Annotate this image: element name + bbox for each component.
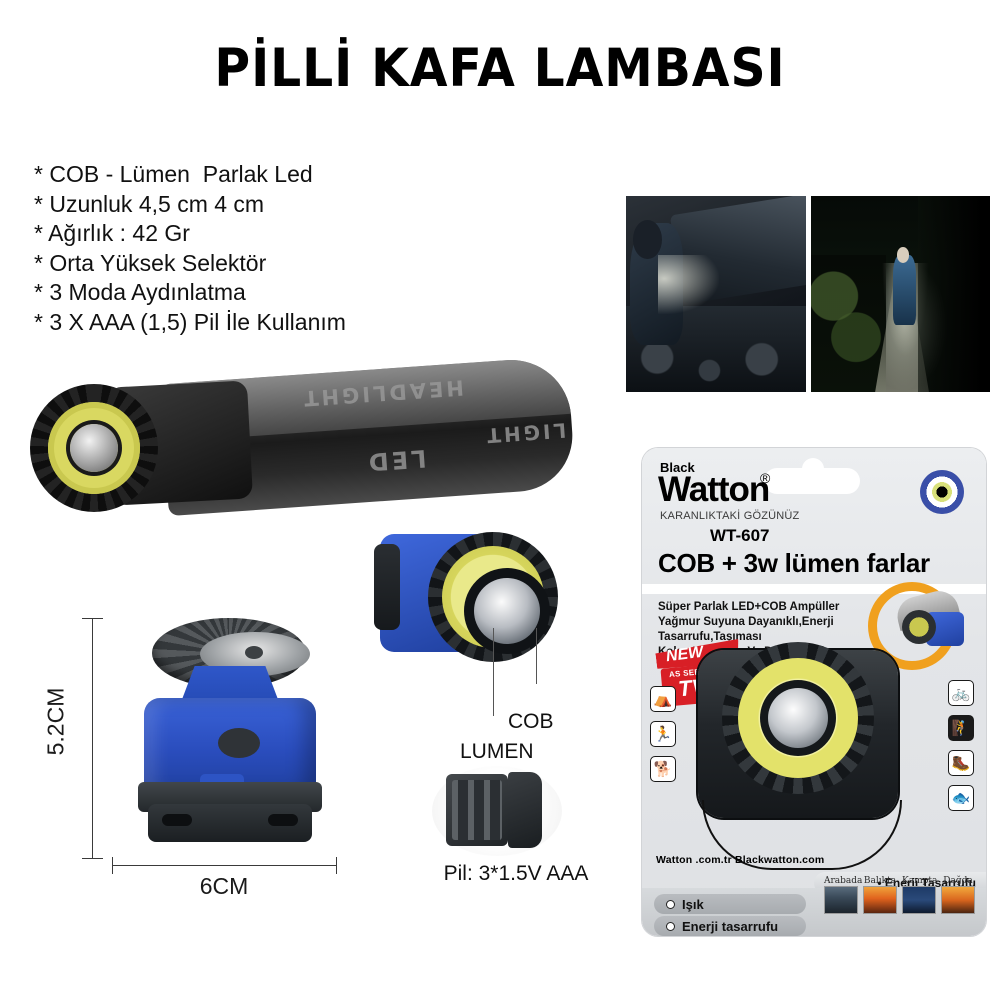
activity-icons-right: 🚲 🧗 🥾 🐟 (948, 680, 978, 820)
height-cap-bottom (82, 858, 103, 859)
spec-item: * COB - Lümen Parlak Led (34, 160, 464, 190)
width-cap-right (336, 857, 337, 874)
spec-list: * COB - Lümen Parlak Led * Uzunluk 4,5 c… (34, 160, 464, 337)
usage-photo-mechanic (626, 196, 806, 392)
activity-icons-left: ⛺ 🏃 🐕 (650, 686, 680, 791)
running-glyph: 🏃 (654, 727, 673, 742)
callout-line-lumen (493, 628, 494, 716)
hiking-icon: 🥾 (948, 750, 974, 776)
scene-label: Arabada (824, 876, 858, 886)
foliage-right (918, 196, 990, 392)
scene-dagda: Dağda (941, 876, 975, 914)
battery-case (446, 774, 508, 846)
brand-name: Watton (658, 470, 769, 510)
feature-label: Işık (682, 897, 704, 912)
euro-hang-slot (764, 468, 860, 494)
fishing-icon: 🐟 (948, 785, 974, 811)
battery-compartment-photo: Pil: 3*1.5V AAA (406, 766, 626, 891)
spec-item: * Uzunluk 4,5 cm 4 cm (34, 190, 464, 220)
product-photo-headband: HEADLIGHT LED LIGHT (14, 356, 574, 546)
scene-balikta: Balıkta (863, 876, 897, 914)
cycling-icon: 🚲 (948, 680, 974, 706)
width-cap-left (112, 857, 113, 874)
scene-thumbnails: Arabada Balıkta Kampta Dağda (824, 876, 975, 914)
usage-photo-gallery (626, 196, 990, 392)
height-measure-line (92, 618, 93, 858)
product-photo-angled-lamp: COB LUMEN (376, 528, 586, 768)
scene-image-camping (902, 886, 936, 914)
scene-label: Balıkta (863, 876, 897, 886)
model-number: WT-607 (710, 526, 770, 546)
callout-label-cob: COB (508, 710, 554, 734)
strap-text-led: LED (365, 444, 427, 476)
scene-kampta: Kampta (902, 876, 936, 914)
cycling-glyph: 🚲 (952, 686, 971, 701)
product-photo-blue-lamp-front (126, 614, 332, 860)
hero-inner-bezel (760, 680, 836, 756)
inner-bezel (464, 568, 550, 654)
power-button (218, 728, 260, 758)
cap-clip (148, 804, 312, 842)
spec-item: * 3 X AAA (1,5) Pil İle Kullanım (34, 308, 464, 338)
battery-caption: Pil: 3*1.5V AAA (406, 862, 626, 886)
climbing-icon: 🧗 (948, 715, 974, 741)
climbing-glyph: 🧗 (952, 721, 971, 736)
scene-image-mountain (941, 886, 975, 914)
brand-tagline: KARANLIKTAKİ GÖZÜNÜZ (660, 510, 799, 522)
hero-cob-ring (738, 658, 858, 778)
hiker-figure (893, 255, 916, 326)
spec-item: * Ağırlık : 42 Gr (34, 219, 464, 249)
package-headline: COB + 3w lümen farlar (658, 548, 930, 579)
spec-item: * Orta Yüksek Selektör (34, 249, 464, 279)
page-title: PİLLİ KAFA LAMBASI (40, 42, 960, 95)
hiking-glyph: 🥾 (952, 756, 971, 771)
camping-icon: ⛺ (650, 686, 676, 712)
hero-led-lens (768, 688, 828, 748)
evil-eye-logo-icon (920, 470, 964, 514)
dog-walking-glyph: 🐕 (654, 762, 673, 777)
feature-row-energy: Enerji tasarrufu (654, 916, 806, 936)
running-icon: 🏃 (650, 721, 676, 747)
inset-product-photo (902, 604, 966, 650)
callout-label-lumen: LUMEN (460, 740, 534, 764)
radio-icon[interactable] (666, 922, 675, 931)
usage-photo-night-hike (811, 196, 991, 392)
fishing-glyph: 🐟 (952, 791, 971, 806)
scene-arabada: Arabada (824, 876, 858, 914)
feature-label: Enerji tasarrufu (682, 919, 778, 934)
radio-icon[interactable] (666, 900, 675, 909)
strap-text-light: LIGHT (483, 418, 566, 448)
led-lens (70, 424, 118, 472)
hiker-head (897, 247, 910, 263)
battery-slots (452, 780, 502, 840)
feature-panel: Işık Enerji tasarrufu Arabada Balıkta Ka… (642, 888, 986, 936)
scene-image-fishing (863, 886, 897, 914)
dog-walking-icon: 🐕 (650, 756, 676, 782)
description-line: Süper Parlak LED+COB Ampüller (658, 600, 878, 615)
cap-clip (374, 544, 400, 630)
height-cap-top (82, 618, 103, 619)
inset-lamp-head (902, 610, 936, 644)
hero-bezel (722, 642, 874, 794)
feature-row-light: Işık (654, 894, 806, 914)
callout-line-cob (536, 628, 537, 684)
scene-image-car (824, 886, 858, 914)
headlamp-beam (658, 255, 719, 314)
height-label: 5.2CM (43, 682, 70, 762)
scene-label: Dağda (941, 876, 975, 886)
battery-lid (508, 772, 542, 848)
camping-glyph: ⛺ (654, 692, 673, 707)
mechanic-head (633, 220, 662, 259)
width-measure-line (112, 865, 336, 866)
dial-center (245, 646, 263, 659)
registered-trademark-icon: ® (760, 470, 770, 486)
website-urls: Watton .com.tr Blackwatton.com (656, 854, 824, 866)
width-label: 6CM (112, 873, 336, 900)
spec-item: * 3 Moda Aydınlatma (34, 278, 464, 308)
foliage-left (811, 255, 886, 392)
cob-ring (48, 402, 140, 494)
retail-package-card: Black Watton ® KARANLIKTAKİ GÖZÜNÜZ WT-6… (642, 448, 986, 936)
dimension-diagram: 5.2CM 6CM (30, 600, 360, 900)
scene-label: Kampta (902, 876, 936, 886)
lamp-bezel (30, 384, 158, 512)
led-lens (474, 578, 540, 644)
